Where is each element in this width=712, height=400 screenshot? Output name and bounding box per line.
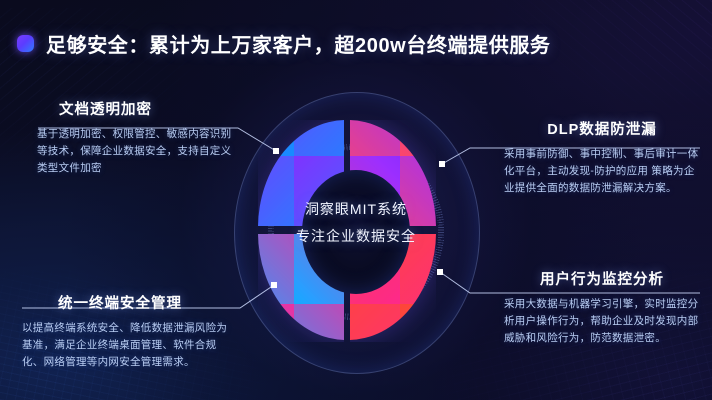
ring-graphic (226, 82, 486, 382)
callout-body-top-left: 基于透明加密、权限管控、敏感内容识别等技术，保障企业数据安全，支持自定义类型文件… (37, 126, 237, 177)
gradient-square-icon (17, 35, 34, 52)
callout-title-top-right: DLP数据防泄漏 (504, 118, 700, 139)
callout-top-right[interactable]: DLP数据防泄漏 采用事前防御、事中控制、事后审计一体化平台，主动发现-防护的应… (504, 118, 700, 197)
callout-bottom-right[interactable]: 用户行为监控分析 采用大数据与机器学习引擎，实时监控分析用户操作行为，帮助企业及… (504, 268, 700, 347)
callout-top-left[interactable]: 文档透明加密 基于透明加密、权限管控、敏感内容识别等技术，保障企业数据安全，支持… (37, 98, 237, 177)
callout-title-bottom-right: 用户行为监控分析 (504, 268, 700, 289)
callout-body-top-right: 采用事前防御、事中控制、事后审计一体化平台，主动发现-防护的应用 策略为企业提供… (504, 146, 700, 197)
callout-body-bottom-left: 以提高终端系统安全、降低数据泄漏风险为基准，满足企业终端桌面管理、软件合规化、网… (22, 320, 237, 371)
background-texture-top-right (472, 0, 712, 130)
ring-core (302, 170, 410, 294)
callout-title-top-left: 文档透明加密 (37, 98, 237, 119)
slide-canvas: 足够安全：累计为上万家客户，超200w台终端提供服务 洞察眼MIT系统 专注企业… (0, 0, 712, 400)
callout-bottom-left[interactable]: 统一终端安全管理 以提高终端系统安全、降低数据泄漏风险为基准，满足企业终端桌面管… (22, 292, 237, 371)
callout-title-bottom-left: 统一终端安全管理 (22, 292, 237, 313)
donut-ring (226, 82, 486, 382)
callout-body-bottom-right: 采用大数据与机器学习引擎，实时监控分析用户操作行为，帮助企业及时发现内部威胁和风… (504, 296, 700, 347)
page-title: 足够安全：累计为上万家客户，超200w台终端提供服务 (46, 29, 551, 58)
header-bar: 足够安全：累计为上万家客户，超200w台终端提供服务 (0, 22, 712, 64)
